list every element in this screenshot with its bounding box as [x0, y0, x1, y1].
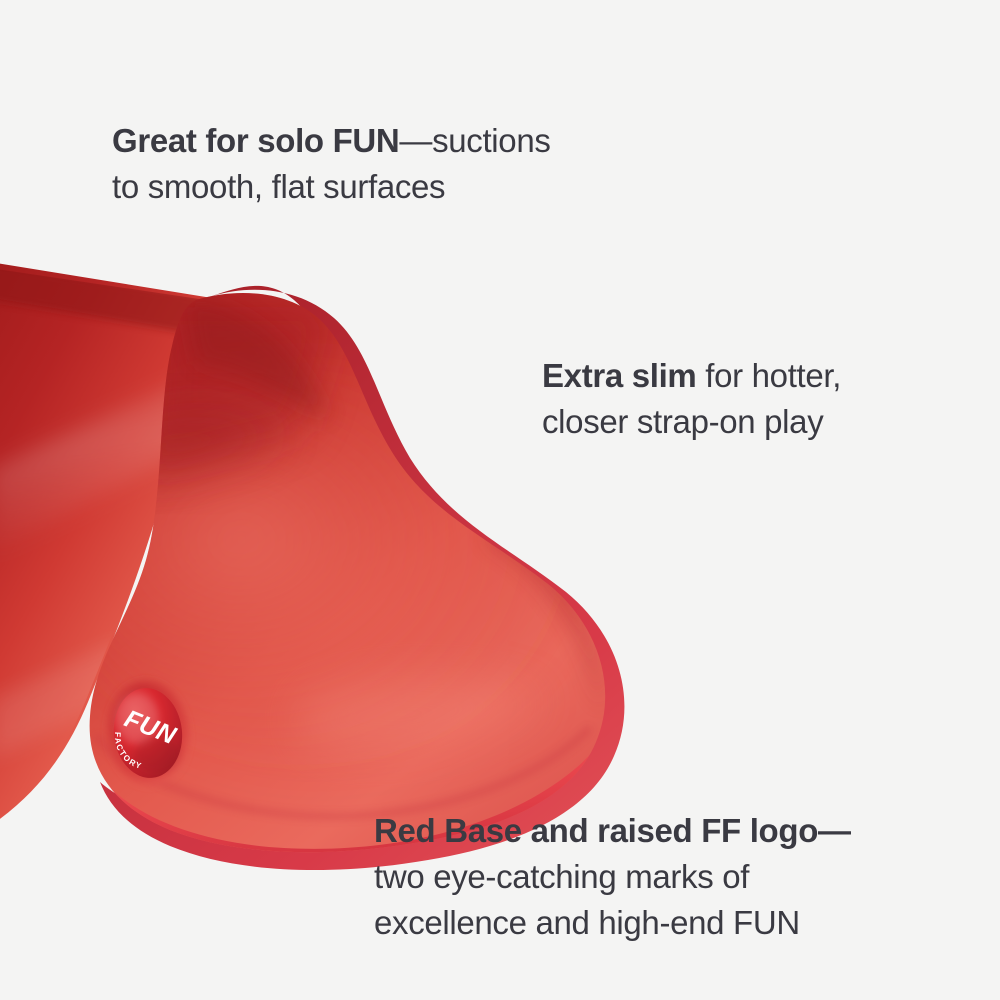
- fun-factory-logo-badge: FACTORY FUN: [96, 677, 193, 790]
- callout-solo-fun-rest-1: —suctions: [399, 122, 550, 159]
- callout-extra-slim-line-2: closer strap-on play: [542, 399, 841, 445]
- callout-red-base-rest-2: two eye-catching marks of: [374, 858, 749, 895]
- callout-extra-slim: Extra slim for hotter, closer strap-on p…: [542, 353, 841, 445]
- product-feature-image: FACTORY FUN Great for solo FUN—suctions …: [0, 0, 1000, 1000]
- callout-solo-fun: Great for solo FUN—suctions to smooth, f…: [112, 118, 551, 210]
- callout-extra-slim-line-1: Extra slim for hotter,: [542, 353, 841, 399]
- callout-solo-fun-lead: Great for solo FUN: [112, 122, 399, 159]
- callout-solo-fun-line-1: Great for solo FUN—suctions: [112, 118, 551, 164]
- badge-secondary-text: FACTORY: [103, 729, 152, 772]
- callout-extra-slim-rest-2: closer strap-on play: [542, 403, 823, 440]
- product-base: [70, 293, 610, 868]
- badge-primary-text: FUN: [120, 705, 180, 751]
- callout-red-base-dash: —: [818, 812, 851, 849]
- callout-red-base-rest-3: excellence and high-end FUN: [374, 904, 800, 941]
- callout-red-base: Red Base and raised FF logo— two eye-cat…: [374, 808, 851, 946]
- callout-red-base-line-2: two eye-catching marks of: [374, 854, 851, 900]
- callout-red-base-line-1: Red Base and raised FF logo—: [374, 808, 851, 854]
- callout-red-base-lead: Red Base and raised FF logo: [374, 812, 818, 849]
- product-shaft: [0, 262, 214, 826]
- callout-extra-slim-rest-1: for hotter,: [696, 357, 841, 394]
- callout-extra-slim-lead: Extra slim: [542, 357, 696, 394]
- callout-solo-fun-line-2: to smooth, flat surfaces: [112, 164, 551, 210]
- callout-solo-fun-rest-2: to smooth, flat surfaces: [112, 168, 445, 205]
- callout-red-base-line-3: excellence and high-end FUN: [374, 900, 851, 946]
